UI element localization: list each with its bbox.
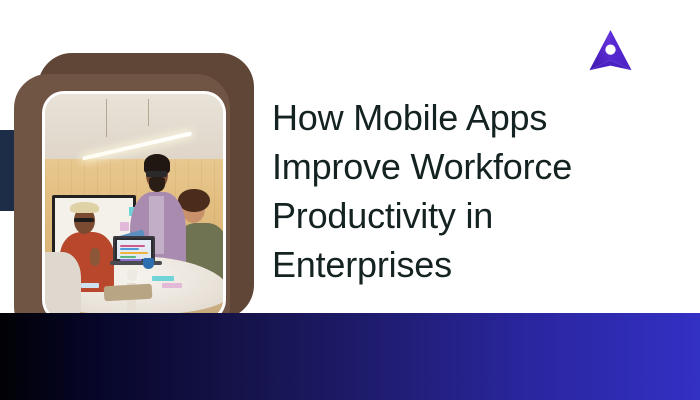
photo-folder — [103, 284, 152, 301]
photo-ceiling — [45, 94, 223, 164]
photo-white-border — [42, 91, 226, 322]
photo-sticky-note — [81, 283, 99, 288]
photo-person-arm — [45, 252, 81, 315]
photo-white-mug — [127, 270, 137, 281]
photo-person-beard — [149, 177, 166, 193]
photo-laptop-screen-chart — [120, 245, 152, 259]
arrowhead-logo-icon[interactable] — [587, 29, 634, 74]
photo-person-foreground-left — [45, 252, 81, 315]
page-title: How Mobile Apps Improve Workforce Produc… — [272, 93, 672, 289]
photo-laptop — [113, 236, 155, 263]
bottom-gradient-band — [0, 313, 700, 400]
photo-person-glasses — [74, 218, 94, 223]
photo-sticky-note — [152, 276, 174, 281]
photo-sticky-note — [120, 222, 129, 231]
photo-card — [14, 53, 254, 341]
meeting-room-photo — [45, 94, 223, 319]
photo-person-glasses — [146, 171, 167, 176]
photo-person-hat — [70, 202, 98, 214]
banner-canvas: How Mobile Apps Improve Workforce Produc… — [0, 0, 700, 400]
photo-person-hand — [90, 248, 99, 266]
photo-blue-mug — [143, 258, 154, 269]
photo-sticky-note — [162, 283, 182, 288]
photo-light-cord — [106, 99, 107, 137]
photo-light-cord — [148, 99, 149, 126]
